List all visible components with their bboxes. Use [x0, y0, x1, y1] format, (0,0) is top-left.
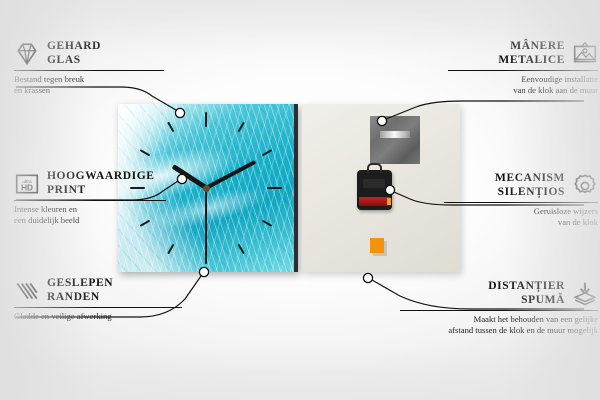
callout-header: ultra HD HOOGWAARDIGE PRINT: [14, 170, 166, 197]
metal-glint: [380, 131, 410, 138]
callout-title: DISTANȚIER SPUMĂ: [488, 280, 565, 307]
hanger-loop: [367, 163, 382, 173]
connector-dot-distantier: [363, 273, 372, 282]
callout-gehard-glas: GEHARD GLAS Bestand tegen breuk en krass…: [14, 40, 164, 95]
callout-divider: [400, 310, 598, 311]
callout-subtitle: Intense kleuren en een duidelijk beeld: [14, 204, 166, 225]
callout-divider: [444, 202, 598, 203]
wall-mount-picture-icon: [572, 41, 598, 67]
callout-mecanism-silentios: MECANISM SILENȚIOS Geruisloze wijzers va…: [444, 172, 598, 227]
clock-center-cap: [203, 185, 210, 192]
callout-subtitle: Geruisloze wijzers van de klok: [444, 206, 598, 227]
callout-title: MÂNERE METALICE: [498, 40, 565, 67]
callout-hoogwaardige-print: ultra HD HOOGWAARDIGE PRINT Intense kleu…: [14, 170, 166, 225]
callout-title: GEHARD GLAS: [47, 40, 101, 67]
ultra-hd-icon: ultra HD: [14, 171, 40, 197]
callout-distantier-spuma: DISTANȚIER SPUMĂ Maakt het behouden van …: [400, 280, 598, 335]
battery: [359, 197, 390, 206]
metal-hanger-swatch: [370, 116, 420, 164]
callout-header: MECANISM SILENȚIOS: [444, 172, 598, 199]
callout-header: MÂNERE METALICE: [448, 40, 598, 67]
callout-divider: [14, 70, 164, 71]
mechanism-slot: [363, 179, 385, 188]
callout-subtitle: Eenvoudige installatie van de klok aan d…: [448, 74, 598, 95]
callout-divider: [14, 307, 182, 308]
callout-subtitle: Maakt het behouden van een gelijke afsta…: [400, 314, 598, 335]
callout-subtitle: Gladde en veilige afwerking: [14, 311, 182, 322]
callout-header: DISTANȚIER SPUMĂ: [400, 280, 598, 307]
foam-spacer: [370, 238, 384, 253]
clock-back-image: [302, 104, 460, 272]
callout-divider: [14, 200, 166, 201]
callout-header: GEHARD GLAS: [14, 40, 164, 67]
clock-tick-12: [205, 112, 207, 188]
callout-manere-metalice: MÂNERE METALICE Eenvoudige installatie v…: [448, 40, 598, 95]
battery-terminal: [387, 198, 391, 205]
beveled-edges-icon: [14, 278, 40, 304]
diamond-icon: [14, 41, 40, 67]
clock-tick-3: [206, 187, 282, 189]
callout-title: MECANISM SILENȚIOS: [495, 172, 565, 199]
svg-text:HD: HD: [21, 183, 33, 192]
clock-second-hand: [205, 188, 207, 250]
callout-subtitle: Bestand tegen breuk en krassen: [14, 74, 164, 95]
callout-title: GESLEPEN RANDEN: [47, 277, 113, 304]
infographic-canvas: GEHARD GLAS Bestand tegen breuk en krass…: [0, 0, 600, 400]
callout-title: HOOGWAARDIGE PRINT: [47, 170, 155, 197]
callout-header: GESLEPEN RANDEN: [14, 277, 182, 304]
callout-divider: [448, 70, 598, 71]
quartz-mechanism: [357, 170, 392, 210]
spacer-stack-icon: [572, 281, 598, 307]
callout-geslepen-randen: GESLEPEN RANDEN Gladde en veilige afwerk…: [14, 277, 182, 322]
gear-icon: [572, 173, 598, 199]
